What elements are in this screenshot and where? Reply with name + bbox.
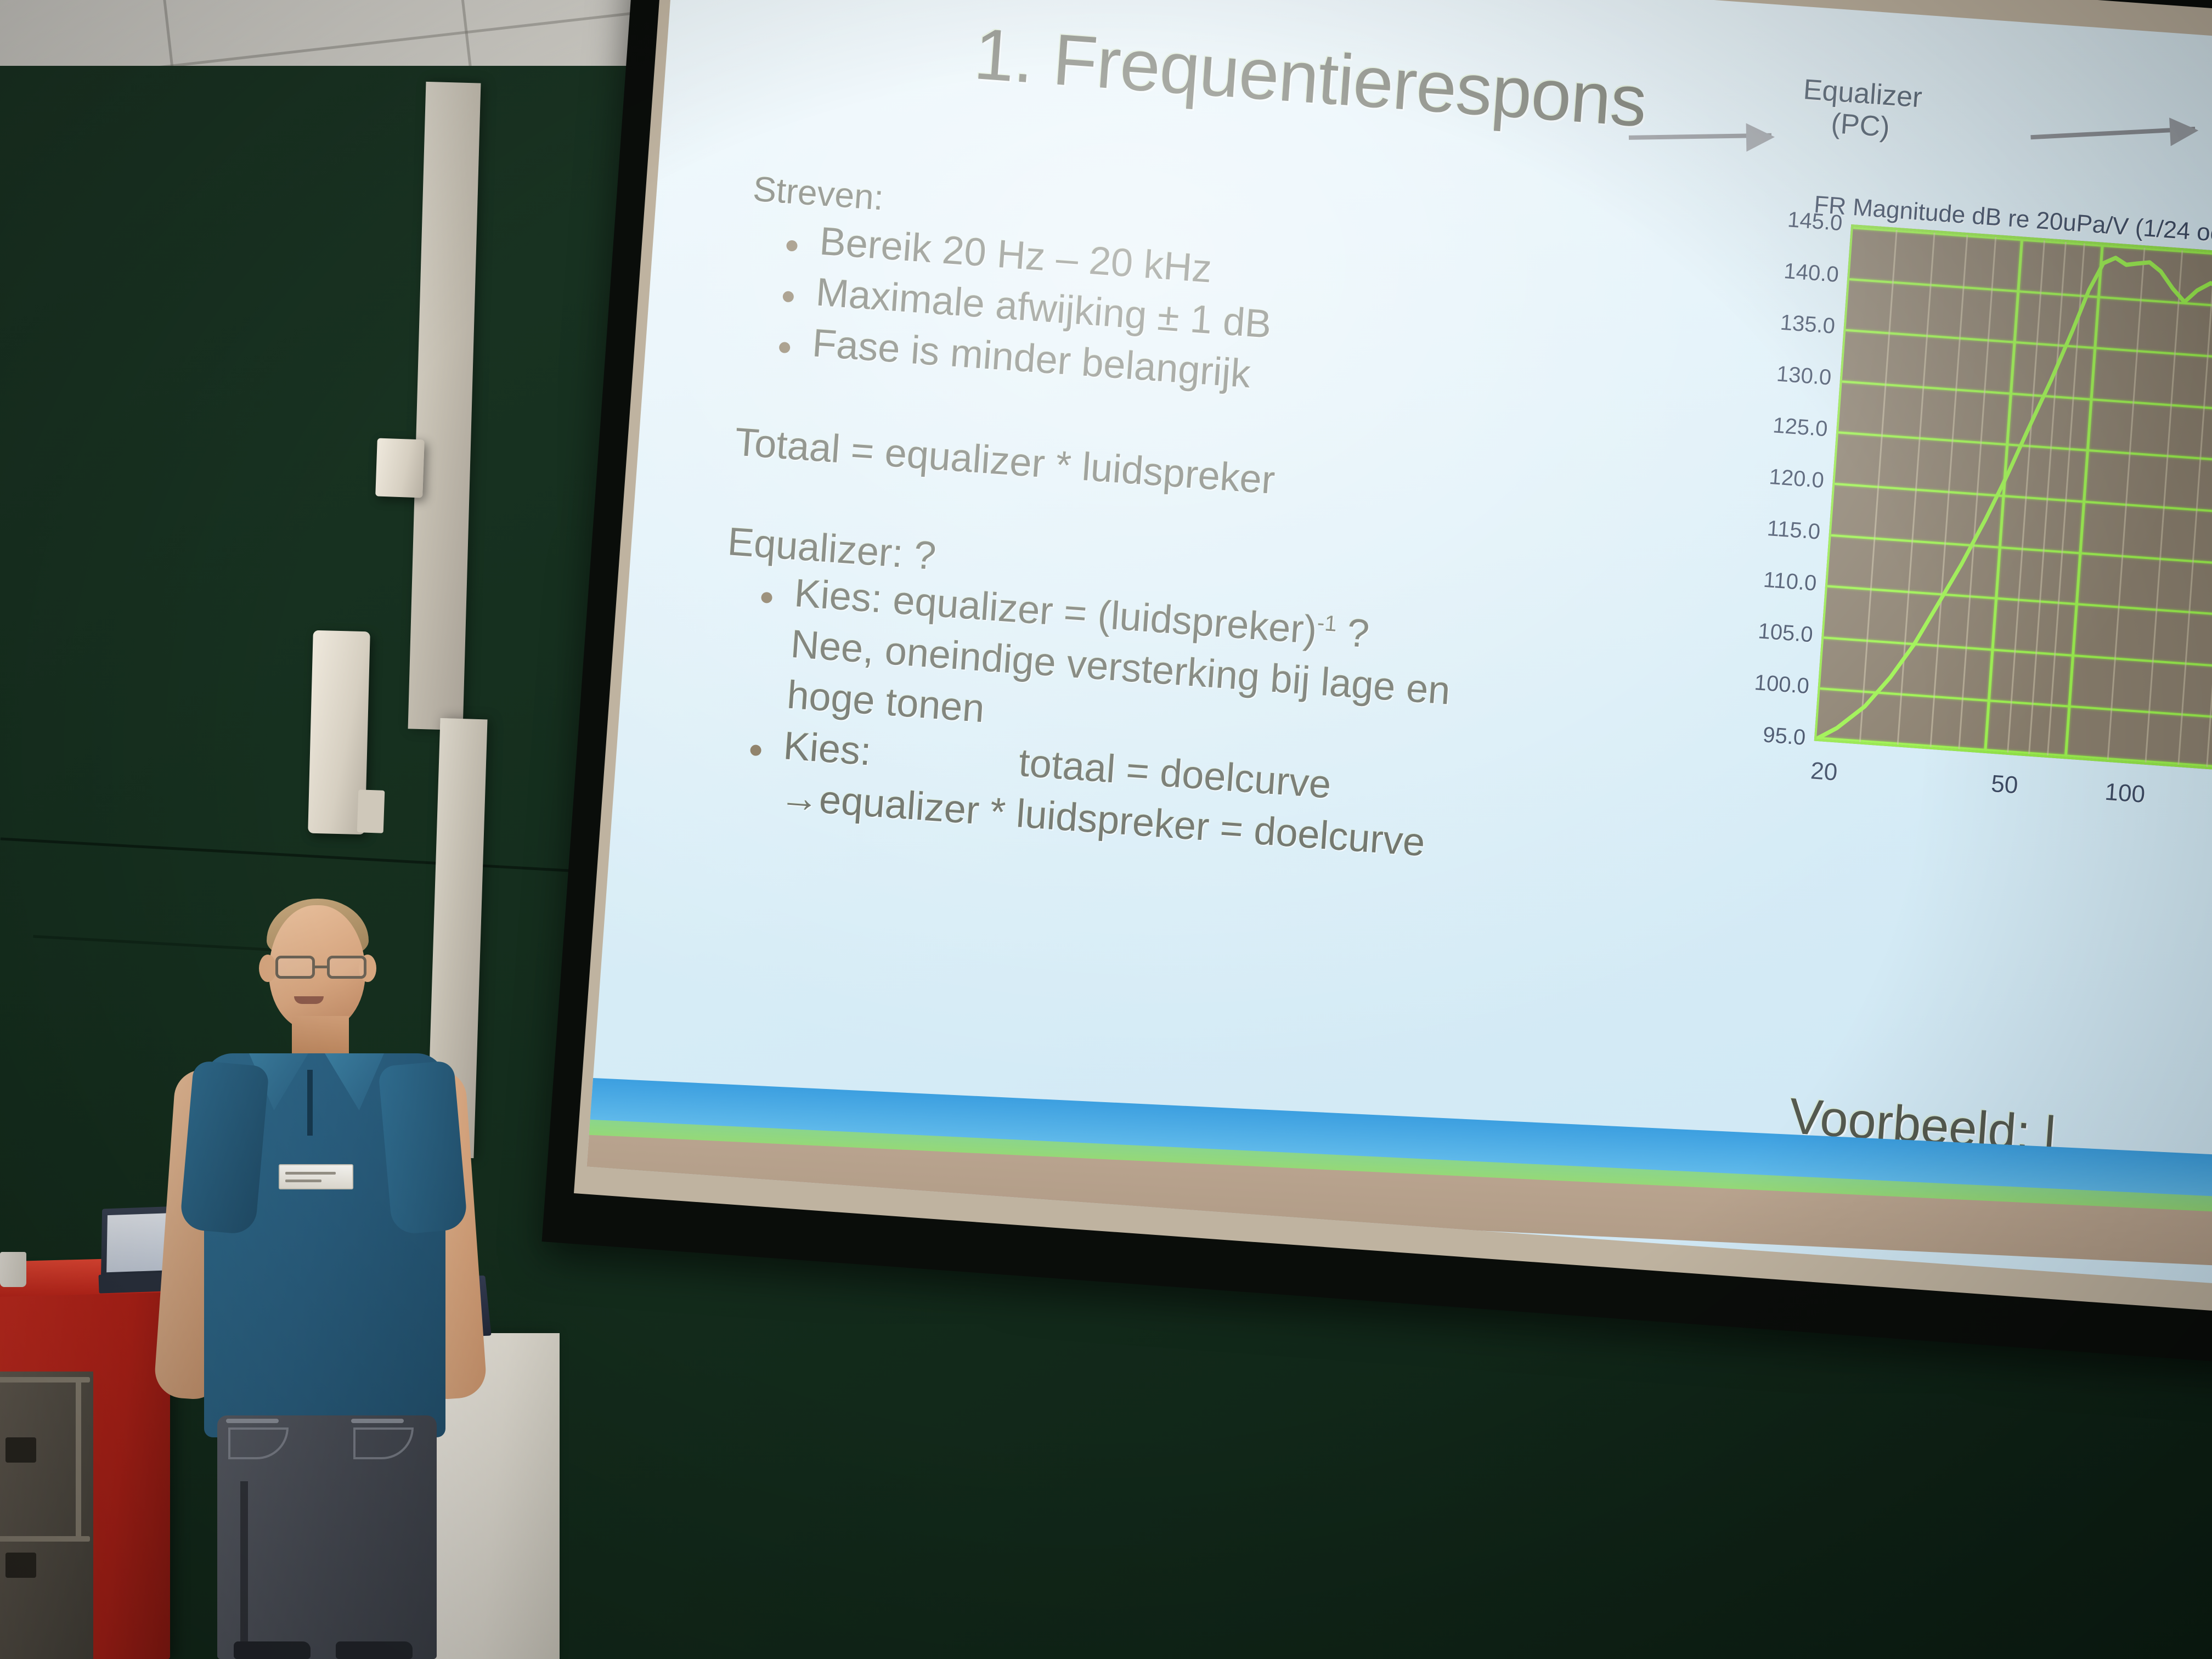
y-axis-tick: 140.0 [1723, 255, 1839, 287]
glasses-bridge [315, 966, 327, 968]
x-axis-tick: 50 [1990, 770, 2019, 799]
x-axis-tick: 20 [1810, 757, 1838, 786]
polo-sleeve-right [378, 1060, 468, 1235]
kies-1-superscript: -1 [1317, 611, 1338, 636]
presenter-ear-left [259, 955, 276, 982]
presenter-mouth [294, 996, 324, 1004]
polo-placket [307, 1070, 313, 1136]
y-axis-tick: 120.0 [1708, 460, 1825, 493]
jeans-inseam [240, 1481, 248, 1659]
slide-title: 1. Frequentierespons [972, 12, 1649, 143]
slide-body: Streven: Bereik 20 Hz – 20 kHz Maximale … [708, 168, 1729, 889]
y-axis-tick: 130.0 [1716, 358, 1832, 391]
presenter-shoe-left [234, 1641, 311, 1659]
arrow-out-of-equalizer-icon [2030, 127, 2195, 139]
presentation-slide: 1. Frequentierespons Streven: Bereik 20 … [587, 0, 2212, 1289]
arrow-into-equalizer-icon [1629, 133, 1771, 140]
equalizer-block-label: Equalizer (PC) [1750, 70, 1973, 150]
paper-cup [0, 1252, 26, 1287]
name-badge [279, 1164, 353, 1189]
speaker-bracket [357, 789, 385, 833]
y-axis-tick: 105.0 [1697, 614, 1814, 647]
y-axis-tick: 125.0 [1712, 409, 1829, 442]
presenter-shoe-right [336, 1641, 413, 1659]
polo-sleeve-left [179, 1060, 269, 1235]
chart-plot-area [1814, 224, 2212, 795]
jeans-belt-loop-left [226, 1419, 279, 1423]
presenter [132, 889, 516, 1659]
glasses-lens-left [275, 956, 315, 979]
wall-loudspeaker-upper [375, 438, 425, 498]
y-axis-tick: 115.0 [1705, 512, 1821, 545]
frequency-response-chart: FR Magnitude dB re 20uPa/V (1/24 oct) 14… [1703, 184, 2212, 832]
kies-1-suffix: ? [1335, 610, 1371, 656]
frequency-response-curve [1816, 227, 2212, 793]
glasses-lens-right [327, 956, 366, 979]
x-axis-tick: 100 [2104, 778, 2146, 809]
jeans-belt-loop-right [351, 1419, 404, 1423]
y-axis-tick: 95.0 [1690, 718, 1807, 751]
lecture-hall-photo: 1. Frequentierespons Streven: Bereik 20 … [0, 0, 2212, 1659]
flight-case [0, 1372, 93, 1659]
y-axis-tick: 110.0 [1701, 563, 1818, 596]
y-axis-tick: 100.0 [1694, 666, 1810, 699]
projection-screen: 1. Frequentierespons Streven: Bereik 20 … [542, 0, 2212, 1366]
y-axis-tick: 135.0 [1719, 306, 1836, 339]
